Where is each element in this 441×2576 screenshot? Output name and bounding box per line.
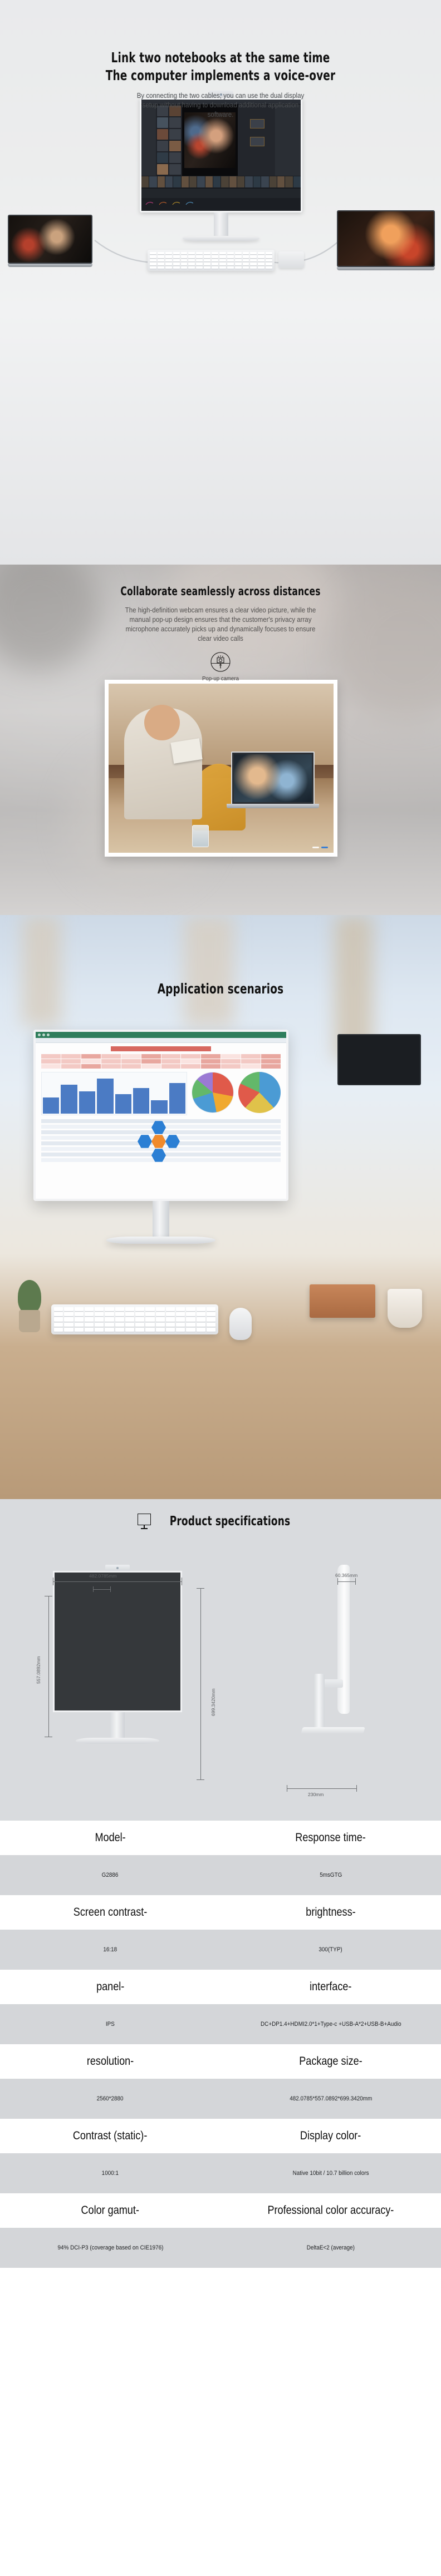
dim-label-base-width: 230mm <box>308 1792 324 1797</box>
wall-tv <box>337 1034 421 1085</box>
technical-drawings: 482.0785mm 557.0892mm 699.3420mm <box>0 1538 441 1821</box>
spec-label-right: interface- <box>220 1970 441 2004</box>
table-row: Model- Response time- <box>0 1821 441 1855</box>
dim-tick-depth-right <box>355 1578 356 1585</box>
spec-label-right: Response time- <box>220 1821 441 1855</box>
spec-text: resolution- <box>87 2055 134 2068</box>
spec-value-left: 1000:1 <box>0 2153 220 2193</box>
spec-text: 2560*2880 <box>97 2094 124 2103</box>
dim-line-base-width <box>287 1788 357 1789</box>
spec-text: Color gamut- <box>81 2204 139 2217</box>
app-monitor-base <box>106 1237 215 1244</box>
popup-camera-icon <box>210 651 231 673</box>
spec-label-right: Display color- <box>220 2119 441 2153</box>
app-monitor <box>33 1030 288 1244</box>
drawing-side-view <box>305 1565 383 1714</box>
spec-label-left: resolution- <box>0 2044 220 2079</box>
laptop-right <box>337 210 435 270</box>
spec-label-left: Color gamut- <box>0 2193 220 2228</box>
spec-text: interface- <box>310 1980 351 1994</box>
spec-value-left: 16:18 <box>0 1930 220 1970</box>
spec-text: Package size- <box>299 2055 362 2068</box>
hex-diagram <box>141 1124 177 1159</box>
collab-header: Collaborate seamlessly across distances … <box>0 565 441 682</box>
spec-value-left: G2886 <box>0 1855 220 1895</box>
app-title: Application scenarios <box>40 981 401 997</box>
spec-text: Professional color accuracy- <box>268 2204 394 2217</box>
dim-line-panel-height <box>48 1596 49 1737</box>
spec-text: brightness- <box>306 1906 355 1919</box>
dim-tick-cam-left <box>93 1586 94 1592</box>
spec-label-left: panel- <box>0 1970 220 2004</box>
dim-tick-bw-left <box>287 1785 287 1792</box>
desk-mouse <box>229 1308 252 1340</box>
mouse <box>278 251 304 268</box>
dim-label-panel-height: 557.0892mm <box>36 1656 41 1684</box>
spec-value-right: Native 10bit / 10.7 billion colors <box>220 2153 441 2193</box>
table-row: Screen contrast- brightness- <box>0 1895 441 1930</box>
app-monitor-neck <box>153 1201 169 1237</box>
table-row: resolution- Package size- <box>0 2044 441 2079</box>
spec-value-right: DC+DP1.4+HDMI2.0*1+Type-c +USB-A*2+USB-B… <box>220 2004 441 2044</box>
spec-text: Display color- <box>300 2129 361 2143</box>
table-row: G2886 5msGTG <box>0 1855 441 1895</box>
dual-paragraph: By connecting the two cables, you can us… <box>136 91 305 120</box>
spec-text: DeltaE<2 (average) <box>307 2243 355 2252</box>
spec-text: Screen contrast- <box>73 1906 148 1919</box>
dim-tick-ph-bot <box>45 1737 52 1737</box>
spec-label-right: brightness- <box>220 1895 441 1930</box>
collab-paragraph: The high-definition webcam ensures a cle… <box>118 606 323 644</box>
dim-label-depth: 60.365mm <box>335 1573 357 1578</box>
dual-title-line1: Link two notebooks at the same time <box>40 49 401 67</box>
spec-text: G2886 <box>102 1871 119 1880</box>
dim-tick-cam-right <box>110 1586 111 1592</box>
desk-cup <box>388 1289 422 1328</box>
dual-title-line2: The computer implements a voice-over <box>40 67 401 85</box>
dim-tick-depth-left <box>337 1578 338 1585</box>
popup-camera-label: Pop-up camera <box>18 675 424 682</box>
dim-label-width: 482.0785mm <box>89 1573 117 1579</box>
dim-line-depth <box>337 1581 356 1582</box>
dim-tick-ph-top <box>45 1596 52 1596</box>
table-row: Color gamut- Professional color accuracy… <box>0 2193 441 2228</box>
spec-text: panel- <box>96 1980 124 1994</box>
table-row: 2560*2880 482.0785*557.0892*699.3420mm <box>0 2079 441 2119</box>
spec-text: 94% DCI-P3 (coverage based on CIE1976) <box>57 2243 163 2252</box>
spec-value-right: 300(TYP) <box>220 1930 441 1970</box>
table-row: Contrast (static)- Display color- <box>0 2119 441 2153</box>
monitor-stand-base <box>183 236 259 241</box>
app-monitor-bezel <box>33 1030 288 1201</box>
spec-header: Product specifications <box>0 1499 441 1538</box>
spec-text: Contrast (static)- <box>73 2129 147 2143</box>
monitor-stand-neck <box>214 212 228 236</box>
spec-label-right: Professional color accuracy- <box>220 2193 441 2228</box>
dim-line-cam <box>93 1589 111 1590</box>
dual-header: Link two notebooks at the same time The … <box>0 0 441 120</box>
dim-tick-left <box>53 1578 53 1585</box>
spec-value-right: 5msGTG <box>220 1855 441 1895</box>
keyboard <box>148 250 275 271</box>
spec-label-left: Contrast (static)- <box>0 2119 220 2153</box>
dim-label-total-height: 699.3420mm <box>210 1688 216 1716</box>
spec-text: 5msGTG <box>320 1871 342 1880</box>
section-dual-notebooks: Link two notebooks at the same time The … <box>0 0 441 565</box>
collab-photo <box>105 680 337 857</box>
spec-value-left: IPS <box>0 2004 220 2044</box>
table-row: 1000:1 Native 10bit / 10.7 billion color… <box>0 2153 441 2193</box>
product-page: Link two notebooks at the same time The … <box>0 0 441 2268</box>
dim-line-total-height <box>200 1588 201 1780</box>
table-row: IPS DC+DP1.4+HDMI2.0*1+Type-c +USB-A*2+U… <box>0 2004 441 2044</box>
dim-tick-th-bot <box>197 1779 204 1780</box>
spec-label-left: Model- <box>0 1821 220 1855</box>
dim-line-width <box>53 1581 182 1582</box>
spec-value-left: 2560*2880 <box>0 2079 220 2119</box>
section-application-scenarios: Application scenarios <box>0 915 441 1499</box>
spec-text: 482.0785*557.0892*699.3420mm <box>290 2094 372 2103</box>
drawing-front-view <box>53 1565 182 1744</box>
desk-notebook <box>310 1284 375 1318</box>
dim-tick-th-top <box>197 1588 204 1589</box>
table-row: 16:18 300(TYP) <box>0 1930 441 1970</box>
app-monitor-screen <box>36 1032 286 1199</box>
spec-label-right: Package size- <box>220 2044 441 2079</box>
spec-value-right: DeltaE<2 (average) <box>220 2228 441 2268</box>
monitor-icon <box>138 1514 151 1529</box>
laptop-left <box>8 215 92 267</box>
table-row: panel- interface- <box>0 1970 441 2004</box>
spec-title: Product specifications <box>170 1514 290 1529</box>
specifications-table: Model- Response time- G2886 5msGTG Scree… <box>0 1821 441 2268</box>
spec-text: Response time- <box>296 1831 366 1845</box>
desk-plant <box>14 1271 45 1332</box>
dim-tick-right <box>182 1578 182 1585</box>
dim-tick-bw-right <box>356 1785 357 1792</box>
section-collaborate: Collaborate seamlessly across distances … <box>0 565 441 915</box>
spec-value-left: 94% DCI-P3 (coverage based on CIE1976) <box>0 2228 220 2268</box>
spec-text: DC+DP1.4+HDMI2.0*1+Type-c +USB-A*2+USB-B… <box>261 2020 401 2029</box>
spec-text: 16:18 <box>104 1945 117 1954</box>
table-row: 94% DCI-P3 (coverage based on CIE1976) D… <box>0 2228 441 2268</box>
spec-text: Native 10bit / 10.7 billion colors <box>292 2169 369 2178</box>
spec-text: IPS <box>106 2020 115 2029</box>
spec-text: 1000:1 <box>102 2169 119 2178</box>
app-header: Application scenarios <box>0 915 441 997</box>
desk-keyboard <box>51 1304 218 1334</box>
spec-label-left: Screen contrast- <box>0 1895 220 1930</box>
section-product-specifications: Product specifications 482.0785mm <box>0 1499 441 2268</box>
collab-title: Collaborate seamlessly across distances <box>40 584 401 599</box>
spec-value-right: 482.0785*557.0892*699.3420mm <box>220 2079 441 2119</box>
spec-text: Model- <box>95 1831 125 1845</box>
spec-text: 300(TYP) <box>319 1945 342 1954</box>
